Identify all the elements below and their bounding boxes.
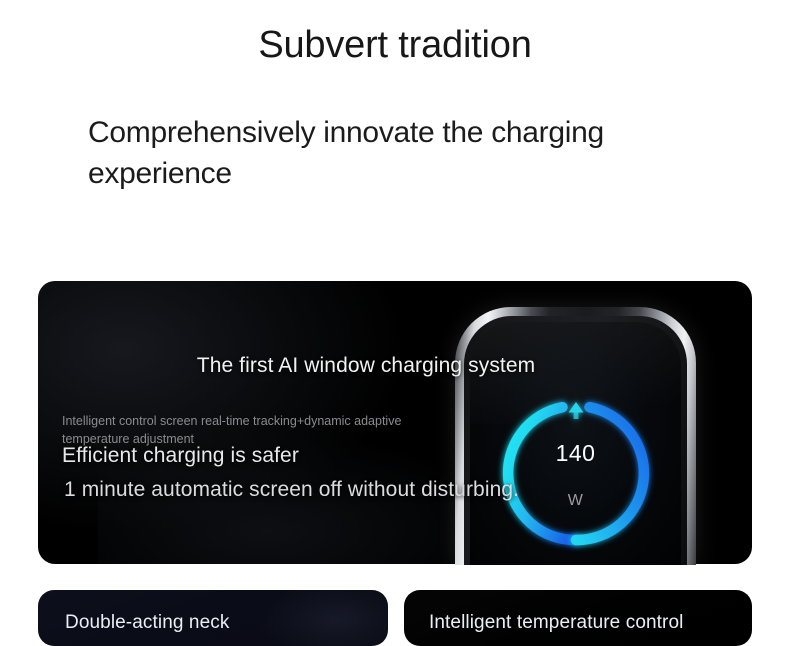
card-overlay-line-2: Efficient charging is safer (62, 444, 532, 468)
page-title: Subvert tradition (0, 24, 790, 68)
card-sheen (258, 590, 388, 646)
charging-power-gauge: 140 W (499, 396, 653, 550)
triangle-up-icon (568, 402, 583, 419)
feature-card-temperature-control[interactable]: Intelligent temperature control (404, 590, 752, 646)
gauge-arc-right (576, 407, 644, 540)
feature-card-double-acting-neck[interactable]: Double-acting neck (38, 590, 388, 646)
card-glow-top (38, 281, 418, 541)
feature-card-label: Intelligent temperature control (429, 612, 683, 634)
gauge-arc-left (508, 407, 576, 540)
charger-device-image: 140 W (455, 307, 696, 565)
page-subtitle: Comprehensively innovate the charging ex… (88, 112, 724, 195)
card-overlay-title: The first AI window charging system (156, 354, 576, 378)
hero-heading-section: Subvert tradition Comprehensively innova… (0, 0, 790, 265)
feature-card-label: Double-acting neck (65, 612, 229, 634)
card-overlay-line-3: 1 minute automatic screen off without di… (64, 478, 564, 502)
